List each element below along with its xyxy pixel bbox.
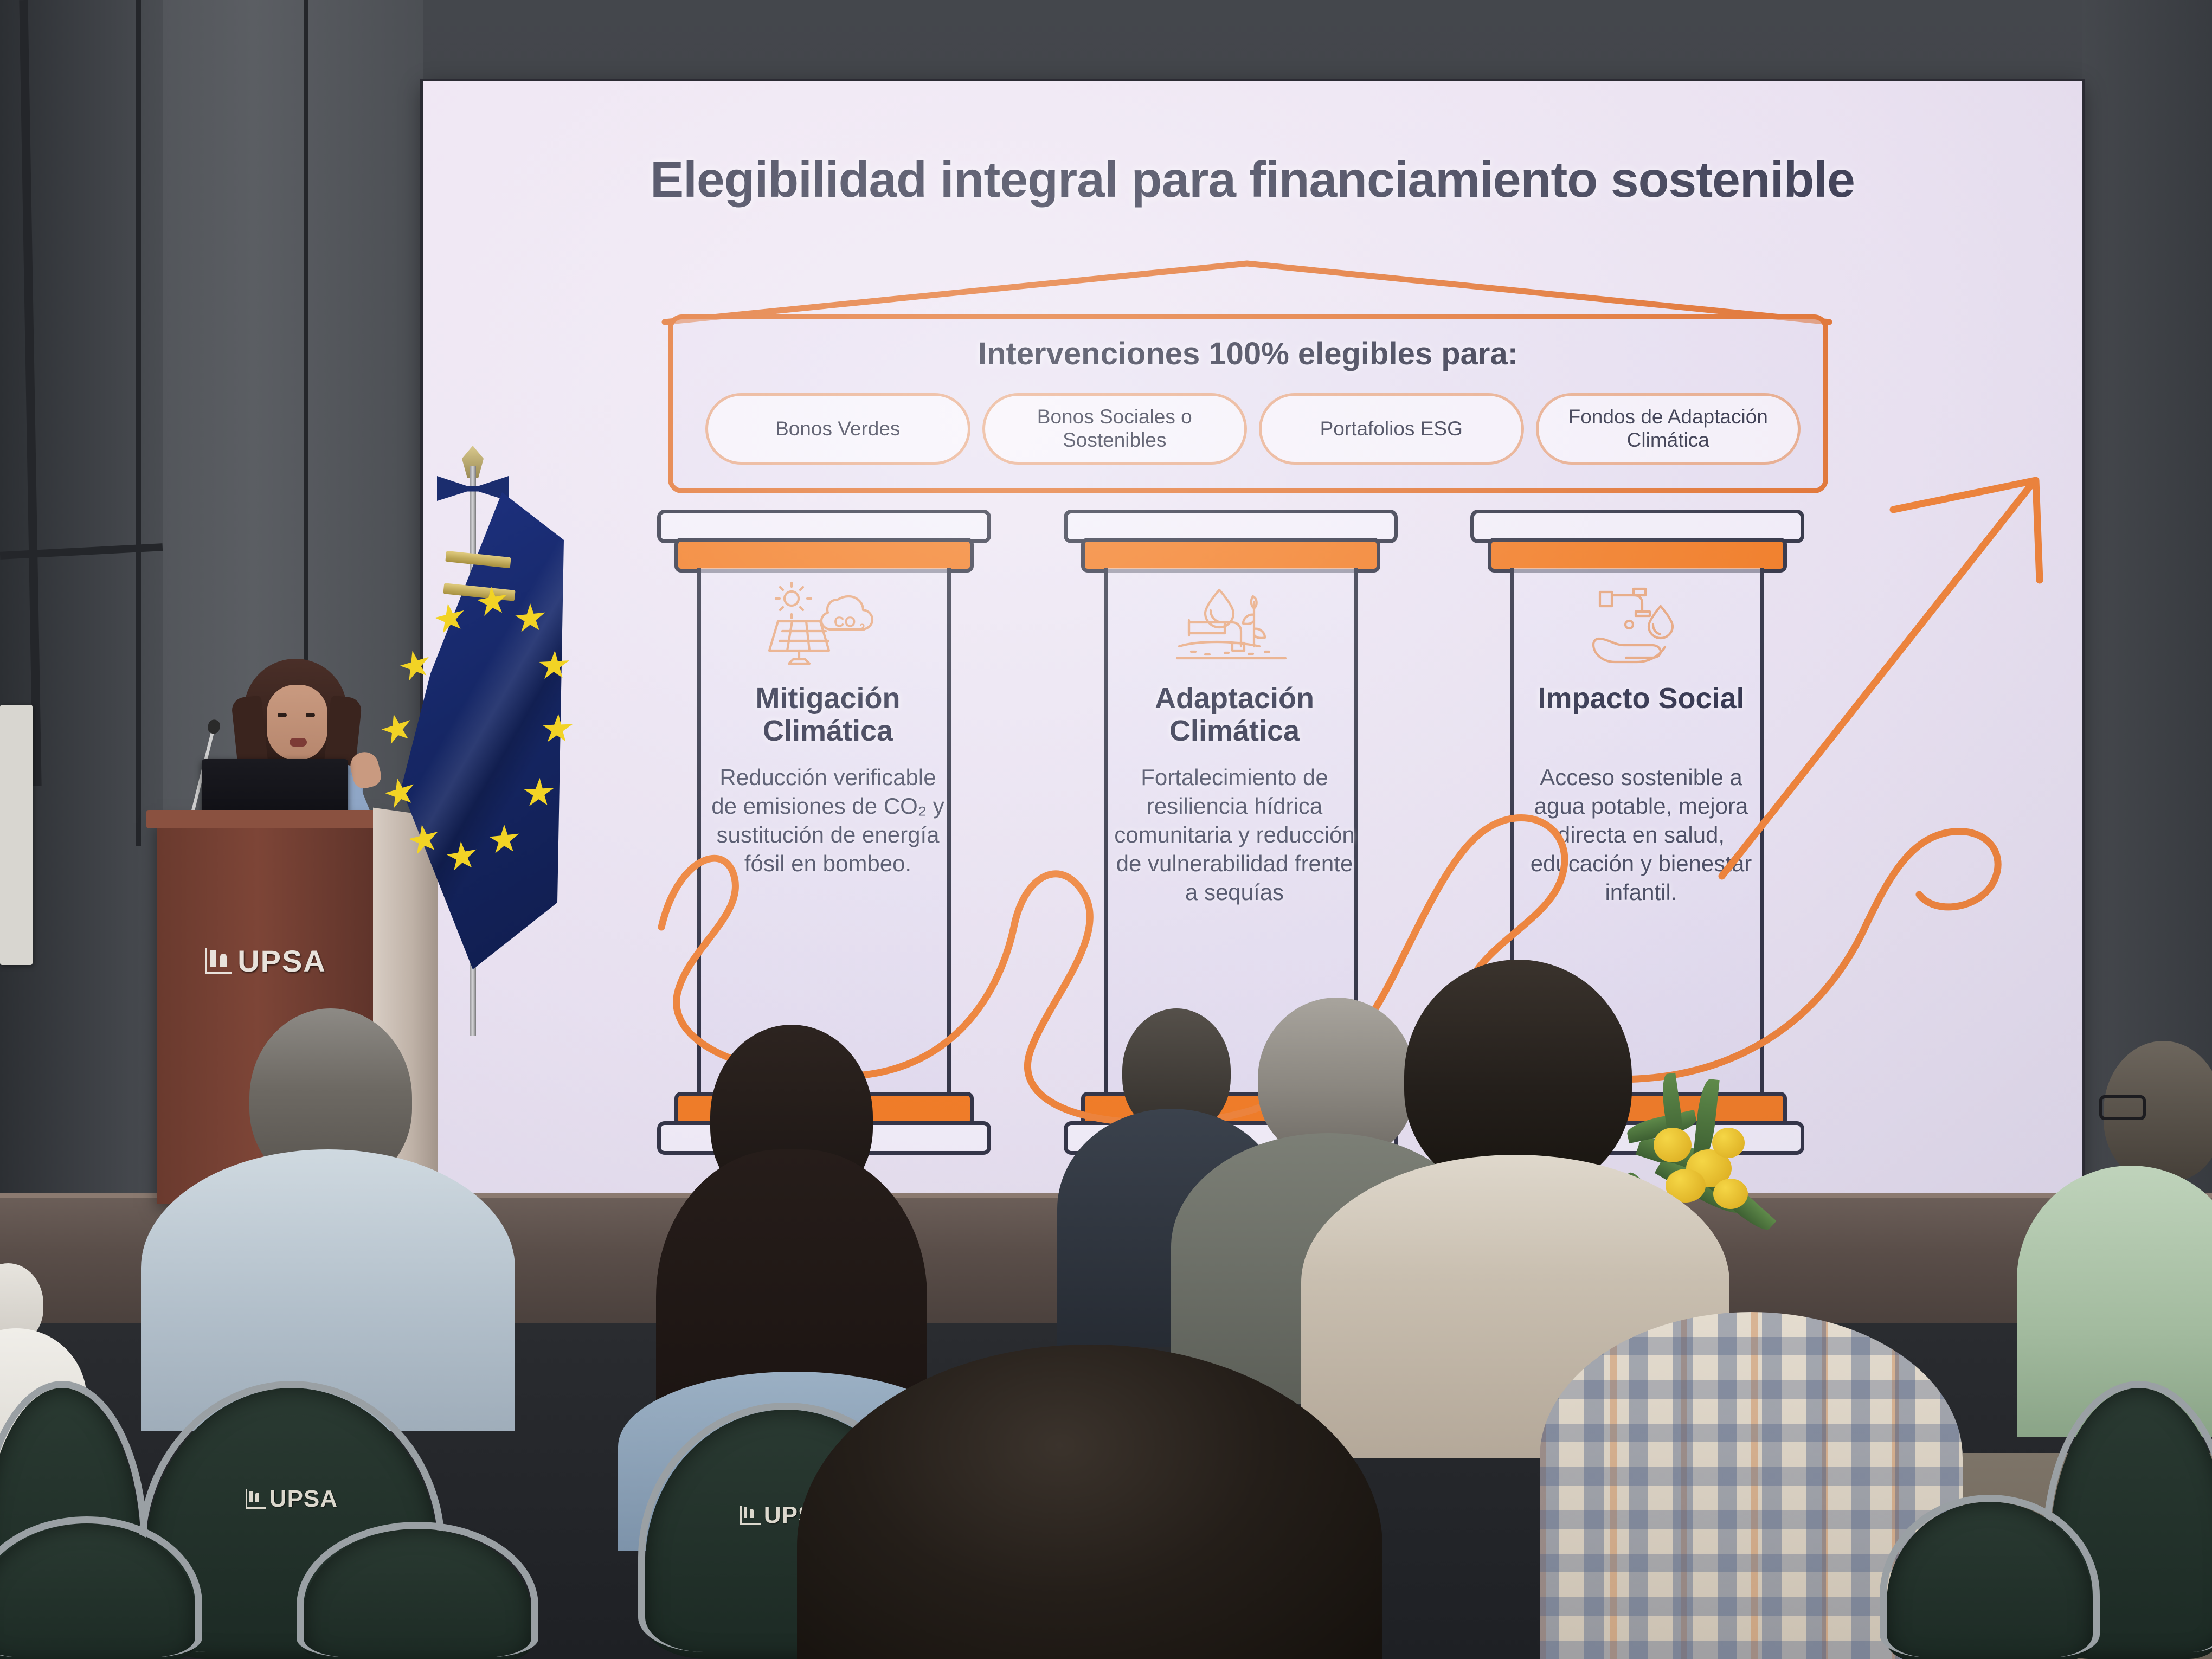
eligibility-header-box: Intervenciones 100% elegibles para: Bono… <box>668 314 1828 493</box>
page-title: Elegibilidad integral para financiamient… <box>423 151 2082 209</box>
podium-logo: UPSA <box>157 943 374 979</box>
eyeglasses-icon <box>2099 1095 2146 1120</box>
presenter-mouth <box>290 738 307 747</box>
svg-text:CO: CO <box>834 614 856 630</box>
column-heading: Mitigación Climática <box>709 682 947 748</box>
column-capital-band <box>1488 538 1787 573</box>
pill-bonos-verdes[interactable]: Bonos Verdes <box>705 393 970 465</box>
flower-bloom <box>1712 1128 1745 1158</box>
water-pipe-plant-icon <box>1108 582 1354 672</box>
column-capital-band <box>674 538 974 573</box>
tap-water-hand-icon <box>1514 582 1760 672</box>
presenter-face <box>267 685 327 761</box>
column-body: Reducción verificable de emisiones de CO… <box>706 763 949 878</box>
wall-seam <box>304 0 308 678</box>
chair <box>0 1523 195 1659</box>
chair <box>304 1529 531 1659</box>
column-heading: Impacto Social <box>1522 682 1760 715</box>
wall-cabinet <box>0 705 33 965</box>
column-body: Acceso sostenible a agua potable, mejora… <box>1520 763 1763 907</box>
solar-panel-co2-icon: CO 2 <box>701 582 947 672</box>
column-body: Fortalecimiento de resiliencia hídrica c… <box>1113 763 1356 907</box>
column-heading: Adaptación Climática <box>1115 682 1354 748</box>
pill-bonos-sociales[interactable]: Bonos Sociales o Sostenibles <box>982 393 1248 465</box>
audience-head <box>797 1345 1382 1659</box>
presenter-eye-left <box>278 713 287 717</box>
audience-member-foreground <box>797 1345 1382 1659</box>
wall-panel-right <box>2082 0 2212 1193</box>
eligibility-pill-row: Bonos Verdes Bonos Sociales o Sostenible… <box>689 393 1817 465</box>
orange-growth-arrow-head <box>1893 480 2040 580</box>
column-shaft: CO 2 Mitigación Climática Reducción veri… <box>697 568 951 1095</box>
podium-logo-text: UPSA <box>237 943 326 979</box>
flower-bloom <box>1713 1179 1748 1209</box>
wall-seam <box>136 0 141 846</box>
column-capital-band <box>1081 538 1380 573</box>
presenter-eye-right <box>306 713 315 717</box>
pill-portafolios-esg[interactable]: Portafolios ESG <box>1259 393 1524 465</box>
chair-logo-text: UPSA <box>269 1486 338 1513</box>
upsa-logo-mark-icon <box>246 1489 266 1509</box>
chair-logo: UPSA <box>145 1486 438 1513</box>
chair <box>1887 1502 2093 1659</box>
header-title: Intervenciones 100% elegibles para: <box>673 336 1823 372</box>
upsa-logo-mark-icon <box>205 948 232 974</box>
podium-top <box>146 810 390 828</box>
audience-member <box>152 1008 499 1420</box>
svg-text:2: 2 <box>859 622 865 634</box>
upsa-logo-mark-icon <box>740 1506 761 1525</box>
pill-fondos-adaptacion[interactable]: Fondos de Adaptación Climática <box>1536 393 1801 465</box>
conference-room: Elegibilidad integral para financiamient… <box>0 0 2212 1659</box>
